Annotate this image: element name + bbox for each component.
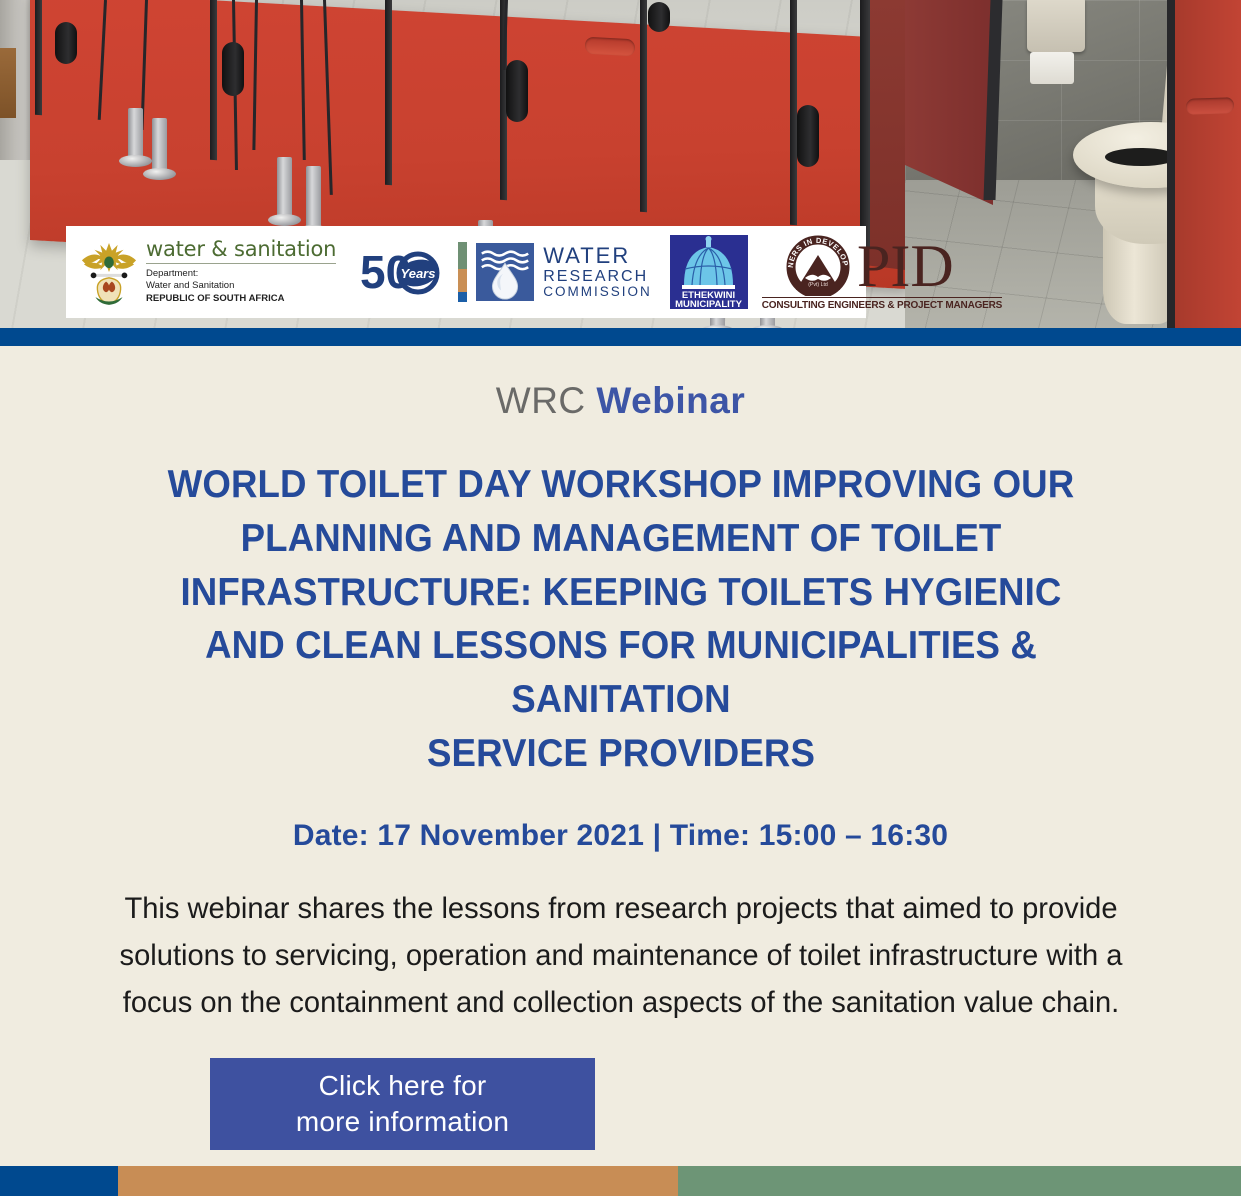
dws-line-3: REPUBLIC OF SOUTH AFRICA (146, 293, 284, 304)
kicker-webinar: Webinar (596, 380, 745, 421)
wrc-line-1: WATER (543, 244, 652, 268)
headline-line: AND CLEAN LESSONS FOR MUNICIPALITIES & S… (94, 619, 1147, 727)
pid-row: PARTNERS IN DEVELOPMENT (Pvt) Ltd PID (785, 234, 979, 296)
door-hinge (55, 22, 77, 64)
dws-divider (146, 263, 336, 264)
sponsor-logo-strip: water & sanitation Department: Water and… (66, 226, 866, 318)
pid-letters: PID (857, 234, 954, 296)
south-african-coat-of-arms-icon (80, 239, 138, 305)
pid-tagline: CONSULTING ENGINEERS & PROJECT MANAGERS (762, 297, 1002, 311)
dws-line-2: Water and Sanitation (146, 280, 336, 293)
header-divider-bar (0, 328, 1241, 346)
wrc-wordmark: WATER RESEARCH COMMISSION (543, 244, 652, 300)
wrc-line-3: COMMISSION (543, 285, 652, 300)
partition-seam (790, 0, 797, 225)
footer-segment-blue (0, 1166, 118, 1196)
door-hinge (506, 60, 528, 122)
pid-pvt-ltd: (Pvt) Ltd (808, 282, 828, 288)
handshake-triangle-icon: PARTNERS IN DEVELOPMENT (Pvt) Ltd (785, 234, 851, 296)
partners-in-development-logo: PARTNERS IN DEVELOPMENT (Pvt) Ltd PID CO… (762, 234, 1002, 311)
partition-seam (210, 0, 217, 160)
partition-seam (35, 0, 42, 115)
door-hinge (648, 2, 670, 32)
paper-towel (1030, 52, 1074, 84)
door-hinge (222, 42, 244, 96)
ethekwini-municipality-logo: ETHEKWINI MUNICIPALITY (670, 235, 748, 309)
partition-seam (385, 0, 392, 185)
footer-colour-bar (0, 1166, 1241, 1196)
footer-segment-orange (118, 1166, 678, 1196)
cubicle-leg (128, 108, 143, 160)
door-handle-right (1186, 97, 1234, 115)
cta-line-2: more information (296, 1104, 509, 1140)
flyer-body: WRC Webinar WORLD TOILET DAY WORKSHOP IM… (0, 346, 1241, 1166)
dws-line-1: Department: (146, 268, 336, 281)
dws-subtitle: Department: Water and Sanitation REPUBLI… (146, 268, 336, 306)
footer-segment-green (678, 1166, 1241, 1196)
red-door-edge (1175, 0, 1241, 330)
dws-title: water & sanitation (146, 239, 336, 260)
date-time-line: Date: 17 November 2021 | Time: 15:00 – 1… (0, 819, 1241, 853)
cta-line-1: Click here for (319, 1068, 487, 1104)
headline-line: INFRASTRUCTURE: KEEPING TOILETS HYGIENIC (94, 566, 1147, 620)
water-drop-icon (476, 243, 534, 301)
years-label: Years (401, 266, 436, 281)
webinar-flyer: water & sanitation Department: Water and… (0, 0, 1241, 1196)
headline-line: WORLD TOILET DAY WORKSHOP IMPROVING OUR (94, 458, 1147, 512)
cubicle-leg (306, 166, 321, 230)
more-information-button[interactable]: Click here for more information (210, 1058, 595, 1150)
page-title: WORLD TOILET DAY WORKSHOP IMPROVING OUR … (94, 458, 1147, 781)
kicker-wrc: WRC (496, 380, 586, 421)
partition-seam (860, 0, 870, 248)
pid-wordmark: PID (855, 234, 979, 296)
description-paragraph: This webinar shares the lessons from res… (92, 885, 1149, 1026)
department-of-water-and-sanitation-logo: water & sanitation Department: Water and… (80, 239, 336, 306)
wrc-line-2: RESEARCH (543, 268, 652, 285)
headline-line: PLANNING AND MANAGEMENT OF TOILET (94, 512, 1147, 566)
wooden-panel (0, 48, 16, 118)
door-handle (585, 37, 635, 57)
door-hinge (797, 105, 819, 167)
kicker: WRC Webinar (0, 380, 1241, 422)
fifty-years-icon: 50 Years (360, 243, 448, 301)
water-research-commission-logo: WATER RESEARCH COMMISSION (458, 242, 652, 302)
fifty-years-logo: 50 Years (360, 243, 448, 301)
paper-dispenser (1027, 0, 1085, 52)
wrc-colour-bars (458, 242, 467, 302)
ethekwini-line-2: MUNICIPALITY (675, 299, 743, 309)
cubicle-leg (277, 157, 292, 219)
headline-line: SERVICE PROVIDERS (94, 727, 1147, 781)
partition-seam (640, 0, 647, 212)
dws-text-block: water & sanitation Department: Water and… (146, 239, 336, 306)
cubicle-leg (152, 118, 167, 173)
